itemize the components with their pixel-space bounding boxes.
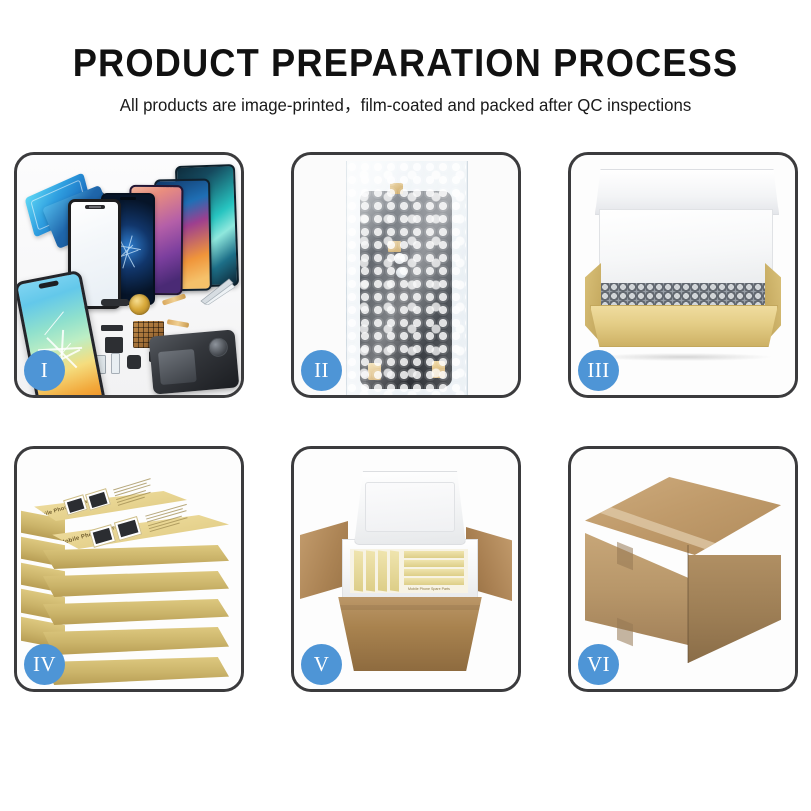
step-badge-6: VI xyxy=(578,644,619,685)
box-side-4 xyxy=(43,627,229,655)
step-panel-stacked-boxes[interactable]: Mobile Phone Spare Parts Mobile Phone Sp… xyxy=(14,446,244,692)
flex-ribbon-icon xyxy=(162,293,186,305)
foam-sheet-icon xyxy=(599,209,773,289)
box-front-panel-icon xyxy=(590,305,778,347)
carton-body-icon xyxy=(332,597,488,671)
step-panel-carton-packing[interactable]: Mobile Phone Spare Parts V xyxy=(291,446,521,692)
header: PRODUCT PREPARATION PROCESS All products… xyxy=(0,0,811,115)
process-step-grid: 08:08 xyxy=(14,152,798,692)
plastic-sheen xyxy=(346,161,466,395)
gold-boxes-inside-icon: Mobile Phone Spare Parts xyxy=(350,549,468,593)
bubble-wrap-contents-icon xyxy=(601,283,769,307)
box-side-2 xyxy=(43,571,229,597)
box-window-front-1 xyxy=(89,524,116,548)
carton-right-face-icon xyxy=(688,555,781,663)
step-badge-3: III xyxy=(578,350,619,391)
page-title: PRODUCT PREPARATION PROCESS xyxy=(28,44,782,83)
step-badge-5: V xyxy=(301,644,342,685)
box-side-5 xyxy=(43,657,229,685)
page-subtitle: All products are image-printed，film-coat… xyxy=(16,97,795,115)
small-chip-2-icon xyxy=(111,353,120,374)
flex-ribbon-2-icon xyxy=(167,319,190,328)
phone-backplate-icon xyxy=(149,329,240,394)
box-shadow xyxy=(595,353,771,361)
foam-lid-icon xyxy=(354,471,466,545)
step-panel-sealed-carton[interactable]: VI xyxy=(568,446,798,692)
box-side-3 xyxy=(43,599,229,625)
step-badge-2: II xyxy=(301,350,342,391)
step-badge-4: IV xyxy=(24,644,65,685)
carton-left-face-icon xyxy=(585,533,688,645)
box-side-1 xyxy=(43,545,229,569)
speaker-part-icon xyxy=(101,299,129,306)
coil-part-icon xyxy=(129,294,150,315)
carton-vertical-seam xyxy=(687,545,689,663)
step-panel-open-box[interactable]: III xyxy=(568,152,798,398)
camera-part-icon xyxy=(105,337,123,353)
carton-flap-left-icon xyxy=(300,521,348,599)
inner-box-caption: Mobile Phone Spare Parts xyxy=(408,587,450,591)
step-badge-1: I xyxy=(24,350,65,391)
button-part-icon xyxy=(127,355,141,369)
bracket-part-icon xyxy=(101,325,123,331)
carton-seal-tape-icon xyxy=(585,477,781,555)
step-panel-bubble-wrap[interactable]: II xyxy=(291,152,521,398)
step-panel-products[interactable]: 08:08 xyxy=(14,152,244,398)
tweezer-icon xyxy=(199,275,239,305)
